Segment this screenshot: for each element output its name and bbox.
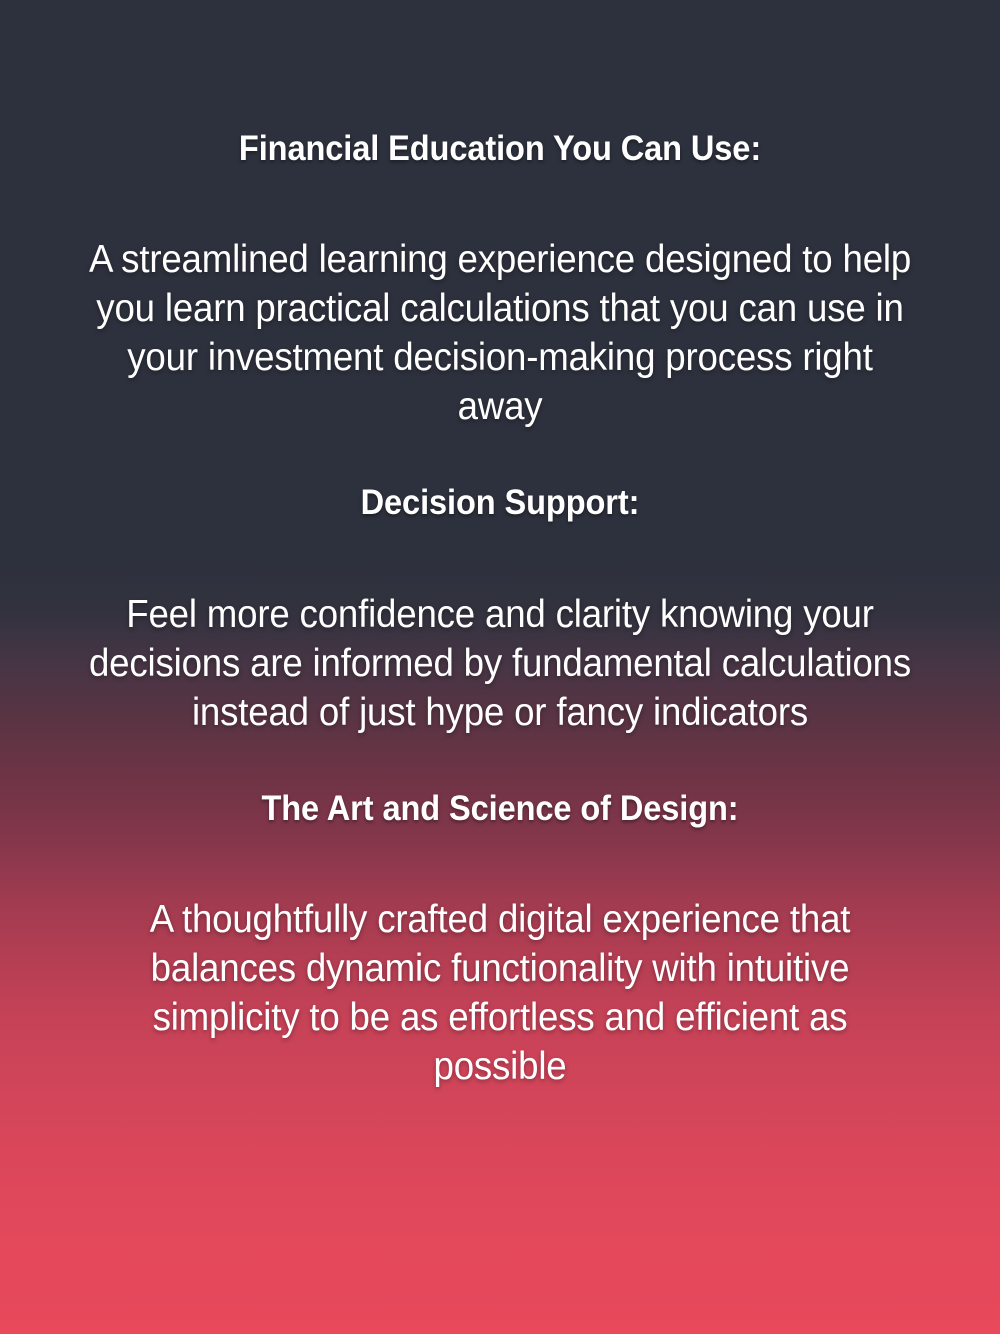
feature-sections-stack: Financial Education You Can Use: A strea…	[50, 128, 950, 1091]
section-heading-decision-support: Decision Support:	[82, 482, 919, 523]
section-heading-art-and-science-of-design: The Art and Science of Design:	[82, 788, 919, 829]
feature-section-decision-support: Decision Support: Feel more confidence a…	[50, 482, 950, 736]
section-heading-financial-education: Financial Education You Can Use:	[82, 128, 919, 169]
feature-section-financial-education: Financial Education You Can Use: A strea…	[50, 128, 950, 431]
section-body-decision-support: Feel more confidence and clarity knowing…	[86, 590, 913, 737]
feature-section-art-and-science-of-design: The Art and Science of Design: A thought…	[50, 788, 950, 1091]
section-body-art-and-science-of-design: A thoughtfully crafted digital experienc…	[86, 895, 913, 1091]
promotional-feature-card: Financial Education You Can Use: A strea…	[0, 0, 1000, 1334]
section-body-financial-education: A streamlined learning experience design…	[86, 235, 913, 431]
